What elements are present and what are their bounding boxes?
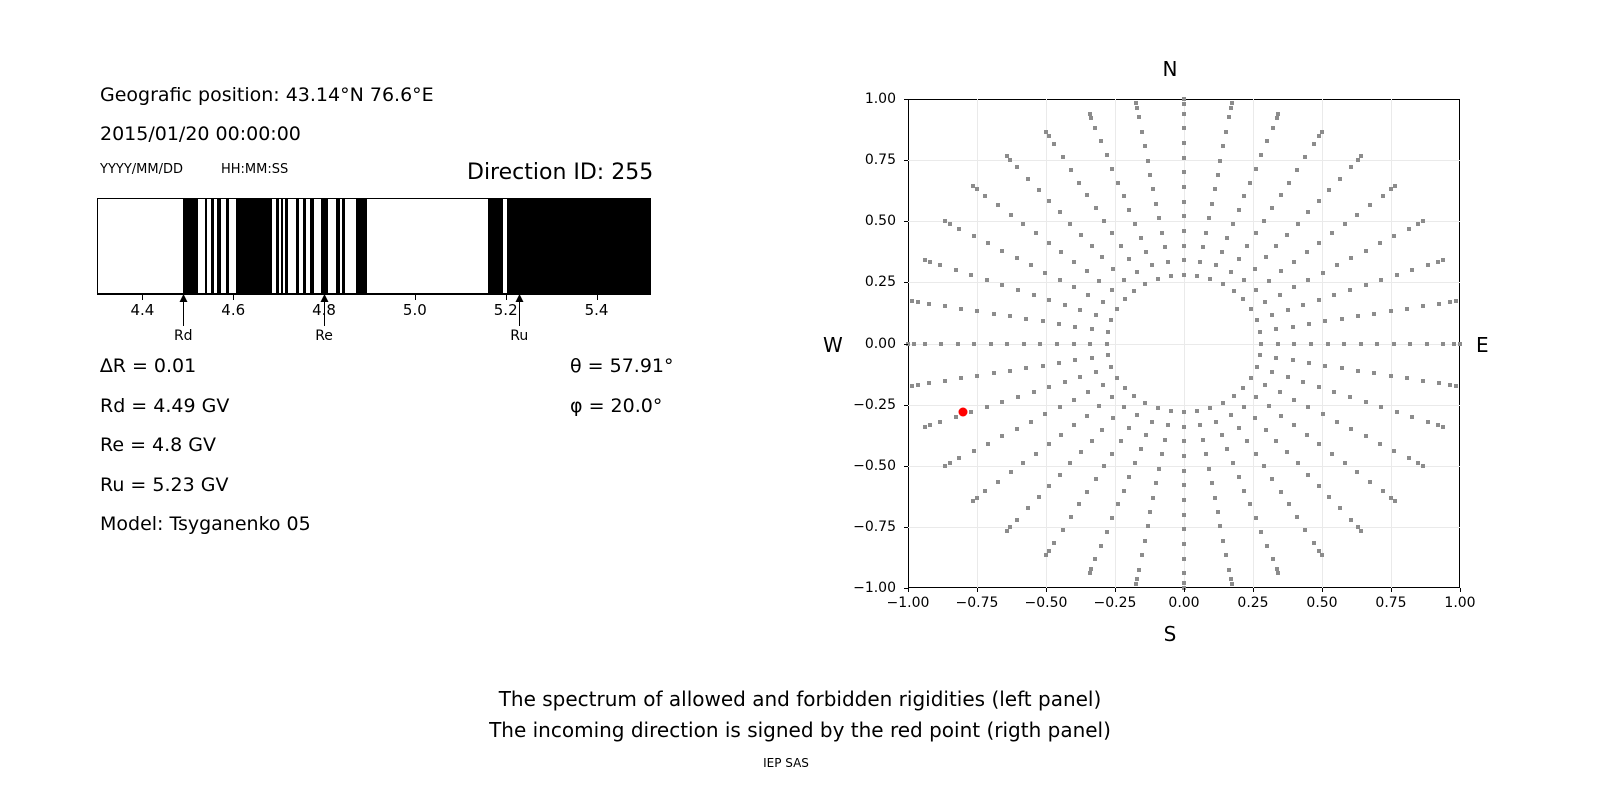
direction-point <box>1157 467 1161 471</box>
direction-point <box>1058 405 1062 409</box>
direction-point <box>975 187 979 191</box>
direction-point <box>1237 426 1241 430</box>
direction-point <box>1139 447 1143 451</box>
direction-point <box>1102 219 1106 223</box>
direction-point <box>1072 398 1076 402</box>
direction-point <box>1335 420 1339 424</box>
direction-point <box>1291 325 1295 329</box>
direction-point <box>1024 317 1028 321</box>
direction-point <box>943 379 947 383</box>
direction-point <box>1068 222 1072 226</box>
direction-point <box>1094 370 1098 374</box>
direction-point <box>1182 439 1186 443</box>
direction-point <box>1135 413 1139 417</box>
direction-point <box>1135 106 1139 110</box>
direction-point <box>1340 366 1344 370</box>
direction-point <box>1306 473 1310 477</box>
direction-point <box>1111 267 1115 271</box>
direction-point <box>1037 188 1041 192</box>
direction-point <box>1169 274 1173 278</box>
direction-point <box>1105 530 1109 534</box>
direction-point <box>1327 495 1331 499</box>
direction-point <box>1061 155 1065 159</box>
direction-point <box>1306 405 1310 409</box>
y-axis-tick-label: 0.75 <box>865 152 896 168</box>
direction-point <box>1043 412 1047 416</box>
direction-point <box>1338 506 1342 510</box>
forbidden-band <box>296 199 298 293</box>
direction-point <box>1349 165 1353 169</box>
direction-point <box>1097 404 1101 408</box>
direction-point <box>1279 193 1283 197</box>
direction-point <box>1214 420 1218 424</box>
direction-point <box>1077 181 1081 185</box>
direction-point <box>927 381 931 385</box>
direction-point <box>1245 244 1249 248</box>
forbidden-band <box>211 199 214 293</box>
marker-arrowhead-ru <box>516 294 524 302</box>
direction-point <box>1119 439 1123 443</box>
direction-point <box>1116 502 1120 506</box>
direction-point <box>1201 438 1205 442</box>
direction-point <box>1458 342 1462 346</box>
direction-point <box>1229 577 1233 581</box>
direction-point <box>1249 376 1253 380</box>
direction-point <box>1392 234 1396 238</box>
direction-point <box>1231 222 1235 226</box>
direction-point <box>1368 480 1372 484</box>
direction-point <box>1359 154 1363 158</box>
direction-point <box>1032 390 1036 394</box>
direction-point <box>1086 390 1090 394</box>
direction-point <box>916 383 920 387</box>
direction-point <box>943 304 947 308</box>
param-phi: φ = 20.0° <box>570 395 662 417</box>
direction-point <box>1105 153 1109 157</box>
direction-point <box>1274 356 1278 360</box>
direction-point <box>1317 199 1321 203</box>
y-axis-tick <box>904 527 908 528</box>
direction-point <box>1008 158 1012 162</box>
y-axis-tick-label: −0.25 <box>853 397 896 413</box>
direction-point <box>1015 165 1019 169</box>
direction-point <box>1285 233 1289 237</box>
direction-point <box>1057 322 1061 326</box>
direction-point <box>1276 112 1280 116</box>
direction-point <box>1154 202 1158 206</box>
direction-point <box>1292 398 1296 402</box>
direction-point <box>1441 258 1445 262</box>
direction-point <box>959 376 963 380</box>
direction-point <box>1437 302 1441 306</box>
direction-point <box>1058 278 1062 282</box>
direction-point <box>986 241 990 245</box>
direction-point <box>1115 307 1119 311</box>
direction-point <box>1182 97 1186 101</box>
direction-point <box>1286 375 1290 379</box>
direction-point <box>1292 423 1296 427</box>
x-axis-tick-label: 0.75 <box>1375 595 1406 611</box>
direction-point <box>1110 395 1114 399</box>
marker-label-re: Re <box>315 328 333 344</box>
direction-point <box>975 374 979 378</box>
direction-point <box>1101 300 1105 304</box>
direction-point <box>1305 250 1309 254</box>
direction-point <box>943 464 947 468</box>
direction-point <box>996 480 1000 484</box>
y-axis-tick-label: 0.50 <box>865 213 896 229</box>
direction-point <box>1375 342 1379 346</box>
direction-point <box>1072 260 1076 264</box>
direction-point <box>1089 567 1093 571</box>
direction-point <box>1106 330 1110 334</box>
direction-point <box>1421 379 1425 383</box>
direction-point <box>1426 263 1430 267</box>
direction-point <box>1265 139 1269 143</box>
param-model: Model: Tsyganenko 05 <box>100 513 311 535</box>
direction-point <box>1317 442 1321 446</box>
forbidden-band <box>226 199 229 293</box>
direction-point <box>1279 490 1283 494</box>
direction-point <box>1295 168 1299 172</box>
direction-point <box>1262 464 1266 468</box>
direction-map-panel: −1.00−0.75−0.50−0.250.000.250.500.751.00… <box>908 99 1460 588</box>
direction-point <box>1389 374 1393 378</box>
direction-point <box>1242 194 1246 198</box>
footer-label: IEP SAS <box>763 756 809 770</box>
direction-point <box>1133 461 1137 465</box>
direction-point <box>1047 442 1051 446</box>
y-axis-tick <box>904 344 908 345</box>
direction-point <box>1021 461 1025 465</box>
direction-point <box>1122 489 1126 493</box>
direction-point <box>1182 469 1186 473</box>
direction-point <box>1210 202 1214 206</box>
direction-point <box>1224 553 1228 557</box>
direction-point <box>1100 428 1104 432</box>
direction-point <box>1274 327 1278 331</box>
rigidity-spectrum-bar <box>97 198 651 294</box>
direction-point <box>1160 452 1164 456</box>
direction-point <box>1044 553 1048 557</box>
direction-point <box>1416 222 1420 226</box>
direction-point <box>1043 271 1047 275</box>
direction-point <box>1254 452 1258 456</box>
direction-point <box>923 258 927 262</box>
direction-point <box>1274 439 1278 443</box>
direction-point <box>1021 222 1025 226</box>
direction-point <box>1225 447 1229 451</box>
direction-point <box>923 425 927 429</box>
marker-arrowhead-re <box>321 294 329 302</box>
direction-point <box>1249 307 1253 311</box>
direction-point <box>1182 258 1186 262</box>
direction-point <box>1000 434 1004 438</box>
direction-point <box>1426 420 1430 424</box>
direction-point <box>1110 288 1114 292</box>
direction-point <box>1123 297 1127 301</box>
direction-point <box>1123 386 1127 390</box>
direction-point <box>916 300 920 304</box>
direction-point <box>985 405 989 409</box>
direction-point <box>992 371 996 375</box>
forbidden-band <box>356 199 367 293</box>
direction-point <box>1127 257 1131 261</box>
direction-point <box>1088 112 1092 116</box>
direction-point <box>1057 361 1061 365</box>
x-axis-tick <box>1253 588 1254 592</box>
direction-point <box>1135 270 1139 274</box>
direction-point <box>1207 216 1211 220</box>
y-axis-tick-label: 1.00 <box>865 91 896 107</box>
direction-point <box>1242 278 1246 282</box>
direction-point <box>1105 342 1109 346</box>
direction-point <box>1285 450 1289 454</box>
direction-point <box>1182 483 1186 487</box>
direction-point <box>1241 386 1245 390</box>
marker-label-ru: Ru <box>510 328 528 344</box>
x-axis-tick-label: −0.50 <box>1025 595 1068 611</box>
x-axis-tick <box>1322 588 1323 592</box>
direction-point <box>1254 288 1258 292</box>
x-axis-tick <box>1046 588 1047 592</box>
direction-point <box>948 461 952 465</box>
direction-point <box>1079 233 1083 237</box>
direction-point <box>1218 524 1222 528</box>
direction-point <box>938 263 942 267</box>
direction-point <box>1342 342 1346 346</box>
forbidden-band <box>336 199 340 293</box>
direction-point <box>1259 530 1263 534</box>
direction-point <box>1405 376 1409 380</box>
direction-point <box>1416 461 1420 465</box>
direction-point <box>1227 568 1231 572</box>
direction-point <box>972 234 976 238</box>
direction-point <box>1255 318 1259 322</box>
direction-point <box>1271 126 1275 130</box>
direction-point <box>1237 475 1241 479</box>
direction-point <box>1182 112 1186 116</box>
direction-point <box>912 342 916 346</box>
direction-point <box>985 278 989 282</box>
direction-point <box>1078 308 1082 312</box>
direction-point <box>1052 142 1056 146</box>
direction-point <box>1278 390 1282 394</box>
y-axis-tick <box>904 282 908 283</box>
direction-point <box>1156 406 1160 410</box>
compass-label-north: N <box>1163 57 1178 81</box>
forbidden-band <box>285 199 288 293</box>
direction-point <box>1127 475 1131 479</box>
direction-point <box>1441 342 1445 346</box>
direction-point <box>1408 342 1412 346</box>
spectrum-tick <box>597 294 598 300</box>
direction-point <box>1305 433 1309 437</box>
direction-point <box>1037 495 1041 499</box>
geographic-position-label: Geografic position: 43.14°N 76.6°E <box>100 84 434 106</box>
spectrum-tick-label: 5.2 <box>494 301 518 319</box>
direction-point <box>1330 231 1334 235</box>
direction-point <box>1144 433 1148 437</box>
direction-point <box>1356 314 1360 318</box>
incoming-direction-point <box>959 407 968 416</box>
direction-point <box>1137 115 1141 119</box>
direction-point <box>1122 405 1126 409</box>
direction-point <box>1232 289 1236 293</box>
direction-point <box>1267 404 1271 408</box>
direction-point <box>1144 250 1148 254</box>
direction-point <box>975 309 979 313</box>
param-rd: Rd = 4.49 GV <box>100 395 229 417</box>
direction-point <box>1278 293 1282 297</box>
direction-point <box>1307 361 1311 365</box>
forbidden-band <box>310 199 314 293</box>
direction-point <box>1454 384 1458 388</box>
direction-point <box>1182 185 1186 189</box>
direction-point <box>1286 308 1290 312</box>
direction-point <box>1320 130 1324 134</box>
direction-point <box>1379 278 1383 282</box>
direction-point <box>1015 256 1019 260</box>
spectrum-tick-label: 4.6 <box>221 301 245 319</box>
direction-point <box>1116 181 1120 185</box>
direction-point <box>1022 342 1026 346</box>
direction-point <box>1077 502 1081 506</box>
direction-point <box>1287 502 1291 506</box>
direction-point <box>1241 297 1245 301</box>
direction-point <box>1307 322 1311 326</box>
direction-point <box>1301 303 1305 307</box>
direction-point <box>969 410 973 414</box>
direction-point <box>1229 413 1233 417</box>
direction-point <box>1150 420 1154 424</box>
direction-point <box>1088 342 1092 346</box>
direction-point <box>1292 285 1296 289</box>
compass-label-west: W <box>823 333 843 357</box>
direction-point <box>1421 219 1425 223</box>
direction-point <box>1231 461 1235 465</box>
direction-point <box>1221 539 1225 543</box>
forbidden-band <box>303 199 306 293</box>
direction-point <box>1029 420 1033 424</box>
x-axis-tick-label: 0.00 <box>1168 595 1199 611</box>
spectrum-tick <box>233 294 234 300</box>
direction-point <box>1005 154 1009 158</box>
forbidden-band <box>236 199 272 293</box>
direction-point <box>1198 260 1202 264</box>
direction-point <box>1134 101 1138 105</box>
x-axis-tick <box>1184 588 1185 592</box>
direction-point <box>1044 130 1048 134</box>
direction-point <box>1157 216 1161 220</box>
direction-point <box>1214 263 1218 267</box>
direction-point <box>1132 394 1136 398</box>
direction-point <box>1230 582 1234 586</box>
direction-point <box>1069 515 1073 519</box>
direction-point <box>1306 210 1310 214</box>
direction-point <box>1090 356 1094 360</box>
direction-point <box>1301 380 1305 384</box>
direction-point <box>1364 249 1368 253</box>
direction-point <box>1132 289 1136 293</box>
caption-line-2: The incoming direction is signed by the … <box>489 718 1111 742</box>
direction-point <box>1182 454 1186 458</box>
direction-point <box>1254 231 1258 235</box>
gridline-horizontal <box>908 221 1460 222</box>
direction-point <box>1332 293 1336 297</box>
direction-point <box>1119 244 1123 248</box>
direction-point <box>1312 541 1316 545</box>
direction-point <box>969 273 973 277</box>
direction-point <box>1109 365 1113 369</box>
x-axis-tick-label: −1.00 <box>887 595 930 611</box>
direction-point <box>1094 477 1098 481</box>
direction-point <box>1364 434 1368 438</box>
direction-point <box>1182 571 1186 575</box>
direction-point <box>1047 241 1051 245</box>
direction-point <box>1437 381 1441 385</box>
direction-point <box>1182 581 1186 585</box>
direction-point <box>1208 277 1212 281</box>
forbidden-band <box>342 199 345 293</box>
direction-point <box>1220 250 1224 254</box>
direction-point <box>1093 557 1097 561</box>
direction-point <box>1182 141 1186 145</box>
direction-point <box>1009 213 1013 217</box>
direction-point <box>1086 293 1090 297</box>
direction-point <box>1436 260 1440 264</box>
direction-point <box>1410 268 1414 272</box>
direction-point <box>1378 241 1382 245</box>
direction-point <box>1348 395 1352 399</box>
direction-point <box>1393 499 1397 503</box>
spectrum-tick <box>506 294 507 300</box>
date-format-hint: YYYY/MM/DD <box>100 162 183 177</box>
direction-point <box>1292 342 1296 346</box>
direction-point <box>923 342 927 346</box>
direction-point <box>1292 260 1296 264</box>
direction-point <box>1005 529 1009 533</box>
direction-point <box>986 442 990 446</box>
direction-point <box>1047 484 1051 488</box>
direction-point <box>1210 481 1214 485</box>
direction-point <box>1063 303 1067 307</box>
direction-point <box>1381 489 1385 493</box>
direction-point <box>1069 168 1073 172</box>
direction-point <box>1275 567 1279 571</box>
direction-point <box>1425 342 1429 346</box>
direction-point <box>1216 173 1220 177</box>
direction-point <box>1276 342 1280 346</box>
direction-point <box>943 219 947 223</box>
direction-point <box>1182 513 1186 517</box>
x-axis-tick-label: −0.25 <box>1094 595 1137 611</box>
direction-point <box>983 194 987 198</box>
direction-point <box>948 222 952 226</box>
x-axis-tick <box>977 588 978 592</box>
direction-point <box>1166 260 1170 264</box>
direction-point <box>1317 385 1321 389</box>
direction-point <box>1296 222 1300 226</box>
direction-point <box>1085 269 1089 273</box>
direction-point <box>1208 406 1212 410</box>
x-axis-tick <box>908 588 909 592</box>
direction-point <box>983 489 987 493</box>
marker-arrow-rd <box>183 300 184 326</box>
direction-point <box>1220 433 1224 437</box>
direction-point <box>1218 159 1222 163</box>
direction-point <box>1343 222 1347 226</box>
